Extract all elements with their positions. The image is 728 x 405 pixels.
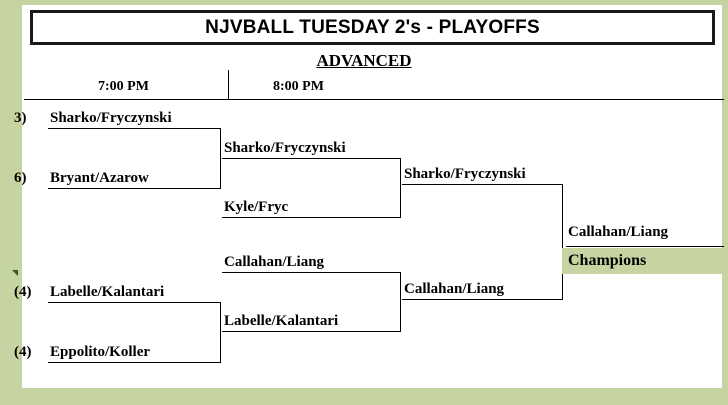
rule-r3-0 <box>402 184 562 185</box>
team-r1-3: Eppolito/Koller <box>50 345 150 360</box>
header-rule <box>24 99 724 100</box>
seed-r1-0: 3) <box>14 110 27 127</box>
connector-r3-final <box>562 184 563 300</box>
rule-r2-1 <box>222 217 400 218</box>
rule-r2-3 <box>222 331 400 332</box>
team-champion: Callahan/Liang <box>568 225 668 240</box>
title-bar: NJVBALL TUESDAY 2's - PLAYOFFS <box>30 10 715 45</box>
team-r3-0: Sharko/Fryczynski <box>404 167 526 182</box>
rule-r1-3 <box>48 362 220 363</box>
rule-r2-0 <box>222 158 400 159</box>
team-r1-0: Sharko/Fryczynski <box>50 111 172 126</box>
time-column-divider <box>228 70 229 99</box>
division-heading: ADVANCED <box>0 51 728 71</box>
time-header-round2: 8:00 PM <box>273 79 324 95</box>
page-title: NJVBALL TUESDAY 2's - PLAYOFFS <box>205 17 540 39</box>
rule-r2-2 <box>222 272 400 273</box>
team-r1-2: Labelle/Kalantari <box>50 285 164 300</box>
rule-r1-0 <box>48 128 220 129</box>
seed-r1-3: (4) <box>14 344 32 361</box>
champions-label: Champions <box>568 252 646 270</box>
seed-r1-2: (4) <box>14 284 32 301</box>
rule-r1-2 <box>48 302 220 303</box>
seed-r1-1: 6) <box>14 170 27 187</box>
team-r2-3: Labelle/Kalantari <box>224 314 338 329</box>
team-r2-1: Kyle/Fryc <box>224 200 288 215</box>
team-r1-1: Bryant/Azarow <box>50 171 149 186</box>
time-header-round1: 7:00 PM <box>98 79 149 95</box>
comment-marker-icon <box>12 270 18 276</box>
team-r3-1: Callahan/Liang <box>404 282 504 297</box>
bracket-page: NJVBALL TUESDAY 2's - PLAYOFFS ADVANCED … <box>0 0 728 405</box>
connector-r2-pair-a <box>400 158 401 218</box>
connector-r1-pair-b <box>220 302 221 363</box>
rule-r1-1 <box>48 188 220 189</box>
connector-r1-pair-a <box>220 128 221 189</box>
team-r2-2: Callahan/Liang <box>224 255 324 270</box>
rule-champion <box>566 246 724 247</box>
rule-r3-1 <box>402 299 562 300</box>
connector-r2-pair-b <box>400 272 401 332</box>
team-r2-0: Sharko/Fryczynski <box>224 141 346 156</box>
